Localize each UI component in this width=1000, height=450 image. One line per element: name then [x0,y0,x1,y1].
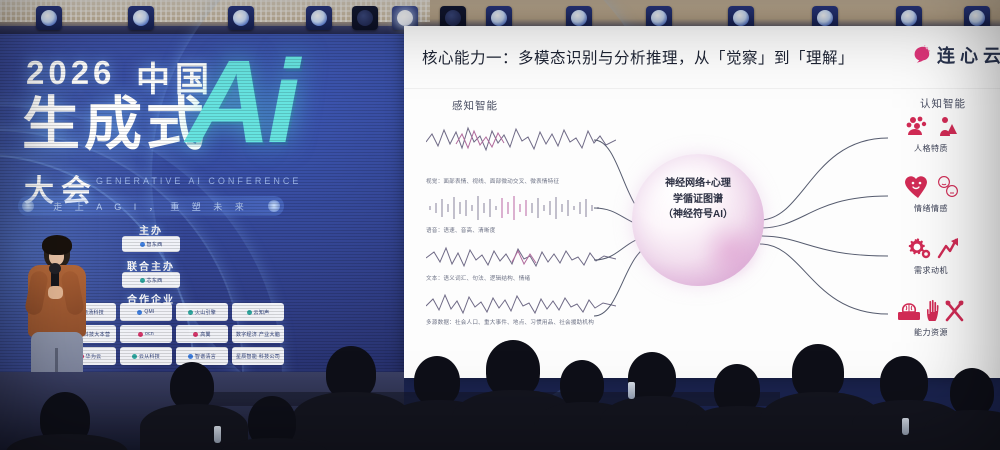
modality-caption: 文本：语义词汇、句法、逻辑结构、情绪 [426,274,530,282]
partner-logo-label: QMI [144,309,154,315]
brain-hand-tools-icon [897,296,965,326]
wave-eeg-icon [426,122,616,156]
banner-tagline: 走 上 A G I ， 重 塑 未 来 [18,196,284,216]
banner-main-title: 生成式 [22,96,208,154]
presenter-hair [42,235,72,255]
lianxinyun-mark-icon [910,44,932,66]
modality-caption: 多源数据：社会人口、重大事件、地点、习惯用品、社会援助机构 [426,318,594,326]
gears-arrow-icon [904,234,959,264]
center-line-2: 学循证图谱 [632,192,764,208]
modality-caption: 视觉：面部表情、视线、面部微动交叉、微表情特征 [426,177,559,185]
stage-light [128,6,154,30]
cognitive-item-label: 情绪情感 [914,203,948,214]
partner-logo-label: 火山引擎 [195,309,216,316]
logo-dot-icon [247,310,252,315]
banner-year: 2026 [26,54,115,92]
partner-logo: 火山引擎 [176,303,228,321]
left-column-heading: 感知智能 [452,98,498,113]
partner-logo: 云知声 [232,303,284,321]
partner-logo: QMI [120,303,172,321]
logo-dot-icon [140,242,145,247]
audience-head [170,362,214,410]
sponsor-logo: 芯东西 [122,272,180,288]
sponsor-logo-label: 芯东西 [147,277,163,284]
conference-photo: 2026 中国 生成式 Ai 大会 GENERATIVE AI CONFEREN… [0,0,1000,450]
cognitive-item-label: 需求动机 [914,265,948,276]
stage-light [36,6,62,30]
wave-audio-icon [426,194,616,222]
right-column-heading: 认知智能 [920,96,966,111]
center-line-1: 神经网络+心理 [632,176,764,192]
presenter-hand [48,286,63,299]
cognitive-item-personality: 人格特质 [884,112,978,154]
sponsor-logo: 智东西 [122,236,180,252]
slide-title: 核心能力一：多模态识别与分析推理，从「觉察」到「理解」 [422,46,854,68]
audience-head [414,356,460,406]
audience [0,330,1000,450]
cognitive-item-label: 人格特质 [914,143,948,154]
audience-head [950,368,994,416]
people-group-icon [906,112,957,142]
sponsor-logo-label: 智东西 [147,241,163,248]
heart-smile-icon [904,172,959,202]
water-bottle [628,382,635,399]
logo-dot-icon [188,310,193,315]
water-bottle [902,418,909,435]
right-connector-curves [760,112,890,342]
audience-shoulders [6,434,128,450]
wave-text-icon [426,242,616,270]
audience-head [560,360,604,408]
logo-dot-icon [140,278,145,283]
banner-ai-mark: Ai [186,52,296,153]
brand-logo: 连心云 [910,42,1000,68]
water-bottle [214,426,221,443]
slide-divider [404,88,1000,89]
center-sphere-text: 神经网络+心理 学循证图谱 （神经符号AI） [632,176,764,223]
audience-shoulders [924,410,1000,450]
center-line-3: （神经符号AI） [632,207,764,223]
modality-caption: 语音：语速、音高、清晰度 [426,226,496,234]
banner-english-subtitle: GENERATIVE AI CONFERENCE [96,176,301,186]
cognitive-item-motivation: 需求动机 [884,234,978,276]
brand-name: 连心云 [937,42,1000,68]
presentation-slide: 核心能力一：多模态识别与分析推理，从「觉察」到「理解」 连心云 感知智能 认知智… [404,26,1000,378]
partner-logo-label: 云知声 [254,309,270,316]
logo-dot-icon [137,310,142,315]
cognitive-item-emotion: 情绪情感 [884,172,978,214]
wave-multi-icon [426,288,616,316]
